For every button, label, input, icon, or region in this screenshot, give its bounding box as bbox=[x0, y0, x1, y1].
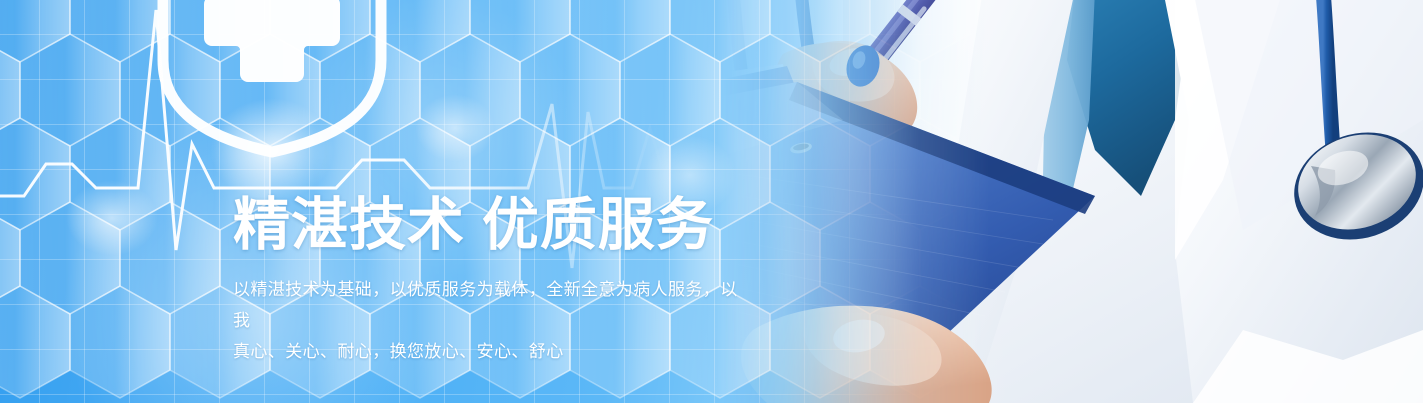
page-title: 精湛技术 优质服务 bbox=[233, 193, 933, 257]
banner-subtitle: 以精湛技术为基础，以优质服务为载体，全新全意为病人服务，以我 真心、关心、耐心，… bbox=[233, 274, 753, 367]
medical-banner: 精湛技术 优质服务 以精湛技术为基础，以优质服务为载体，全新全意为病人服务，以我… bbox=[0, 0, 1423, 403]
medical-cross-icon bbox=[204, 0, 340, 82]
subtitle-line-2: 真心、关心、耐心，换您放心、安心、舒心 bbox=[233, 336, 753, 367]
banner-copy: 精湛技术 优质服务 以精湛技术为基础，以优质服务为载体，全新全意为病人服务，以我… bbox=[233, 193, 933, 367]
subtitle-line-1: 以精湛技术为基础，以优质服务为载体，全新全意为病人服务，以我 bbox=[233, 274, 753, 336]
